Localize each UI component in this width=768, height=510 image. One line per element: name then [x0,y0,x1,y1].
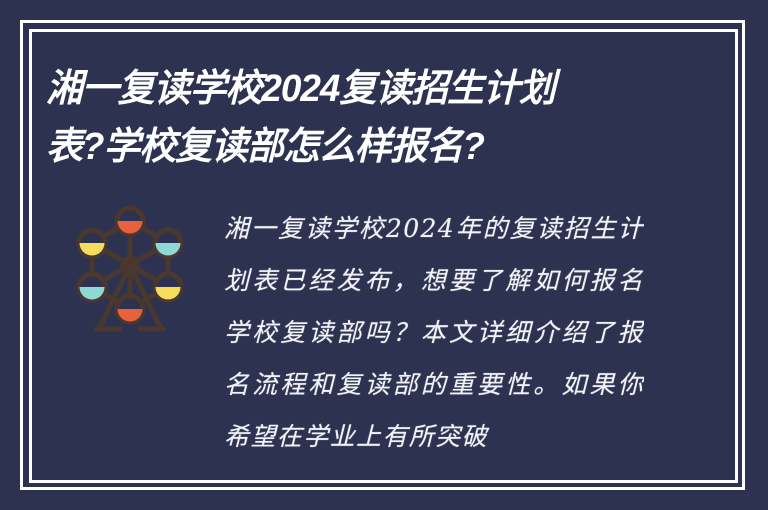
body-copy: 湘一复读学校2024年的复读招生计划表已经发布，想要了解如何报名学校复读部吗？本… [224,203,644,503]
page-title: 湘一复读学校2024复读招生计划 表?学校复读部怎么样报名? [46,60,646,176]
gondola-upper-left [79,230,105,256]
body-text: 湘一复读学校2024年的复读招生计划表已经发布，想要了解如何报名学校复读部吗？本… [224,203,644,463]
title-line-2: 表?学校复读部怎么样报名? [46,118,628,176]
poster-canvas: 湘一复读学校2024复读招生计划 表?学校复读部怎么样报名? [0,0,768,510]
gondola-top [117,208,143,234]
gondola-upper-right [155,230,181,256]
ferris-wheel-icon [70,203,190,333]
title-line-1: 湘一复读学校2024复读招生计划 [46,60,628,118]
gondola-lower-right [155,274,181,300]
gondola-lower-left [79,274,105,300]
gondola-bottom [117,296,143,322]
